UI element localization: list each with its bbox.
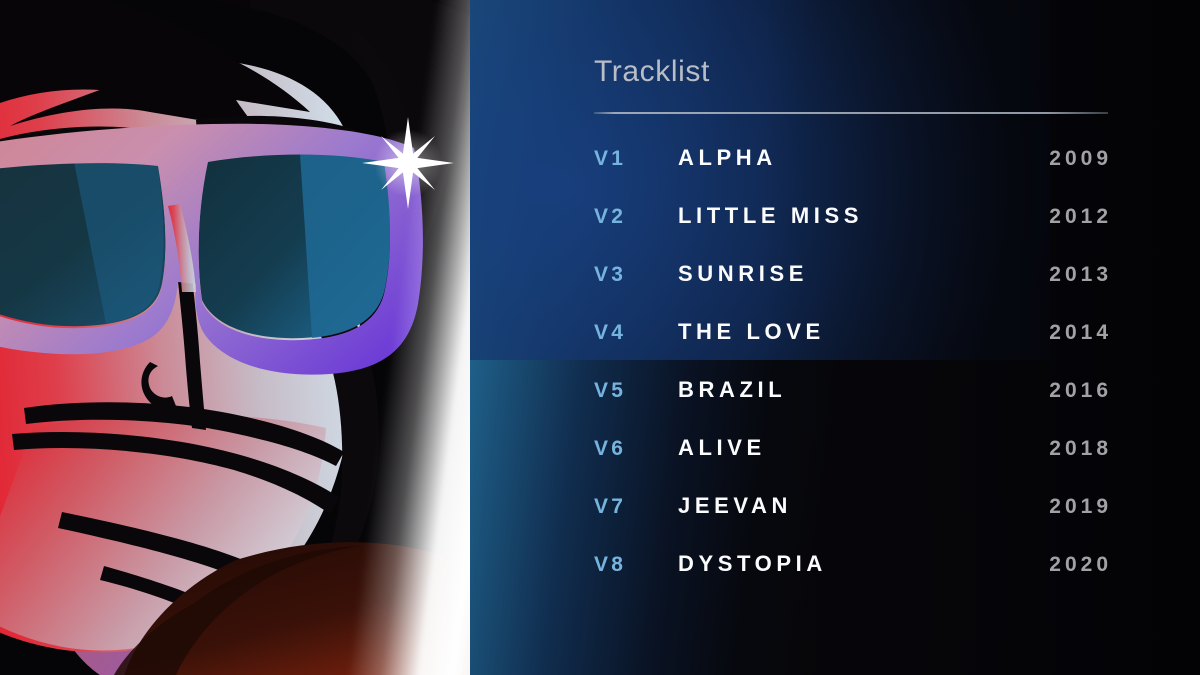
track-version: V7 [594, 495, 678, 519]
track-title: SUNRISE [678, 261, 1049, 287]
table-row[interactable]: V5 BRAZIL 2016 [594, 377, 1114, 435]
track-title: LITTLE MISS [678, 203, 1049, 229]
table-row[interactable]: V3 SUNRISE 2013 [594, 261, 1114, 319]
slide-canvas: Tracklist V1 ALPHA 2009 V2 LITTLE MISS 2… [0, 0, 1200, 675]
track-list: V1 ALPHA 2009 V2 LITTLE MISS 2012 V3 SUN… [594, 145, 1114, 609]
table-row[interactable]: V1 ALPHA 2009 [594, 145, 1114, 203]
table-row[interactable]: V7 JEEVAN 2019 [594, 493, 1114, 551]
track-version: V5 [594, 379, 678, 403]
page-title: Tracklist [594, 55, 710, 89]
table-row[interactable]: V8 DYSTOPIA 2020 [594, 551, 1114, 609]
table-row[interactable]: V6 ALIVE 2018 [594, 435, 1114, 493]
table-row[interactable]: V2 LITTLE MISS 2012 [594, 203, 1114, 261]
track-title: ALIVE [678, 435, 1049, 461]
track-title: DYSTOPIA [678, 551, 1049, 577]
track-version: V1 [594, 147, 678, 171]
track-version: V6 [594, 437, 678, 461]
track-year: 2012 [1049, 205, 1114, 229]
track-year: 2014 [1049, 321, 1114, 345]
track-year: 2020 [1049, 553, 1114, 577]
track-title: BRAZIL [678, 377, 1049, 403]
track-version: V4 [594, 321, 678, 345]
track-version: V2 [594, 205, 678, 229]
track-title: THE LOVE [678, 319, 1049, 345]
track-year: 2019 [1049, 495, 1114, 519]
track-title: ALPHA [678, 145, 1049, 171]
track-version: V8 [594, 553, 678, 577]
track-year: 2018 [1049, 437, 1114, 461]
track-year: 2013 [1049, 263, 1114, 287]
table-row[interactable]: V4 THE LOVE 2014 [594, 319, 1114, 377]
title-divider [594, 112, 1108, 114]
tracklist-content: Tracklist V1 ALPHA 2009 V2 LITTLE MISS 2… [470, 0, 1200, 675]
track-year: 2009 [1049, 147, 1114, 171]
tracklist-panel: Tracklist V1 ALPHA 2009 V2 LITTLE MISS 2… [470, 0, 1200, 675]
track-year: 2016 [1049, 379, 1114, 403]
track-version: V3 [594, 263, 678, 287]
track-title: JEEVAN [678, 493, 1049, 519]
